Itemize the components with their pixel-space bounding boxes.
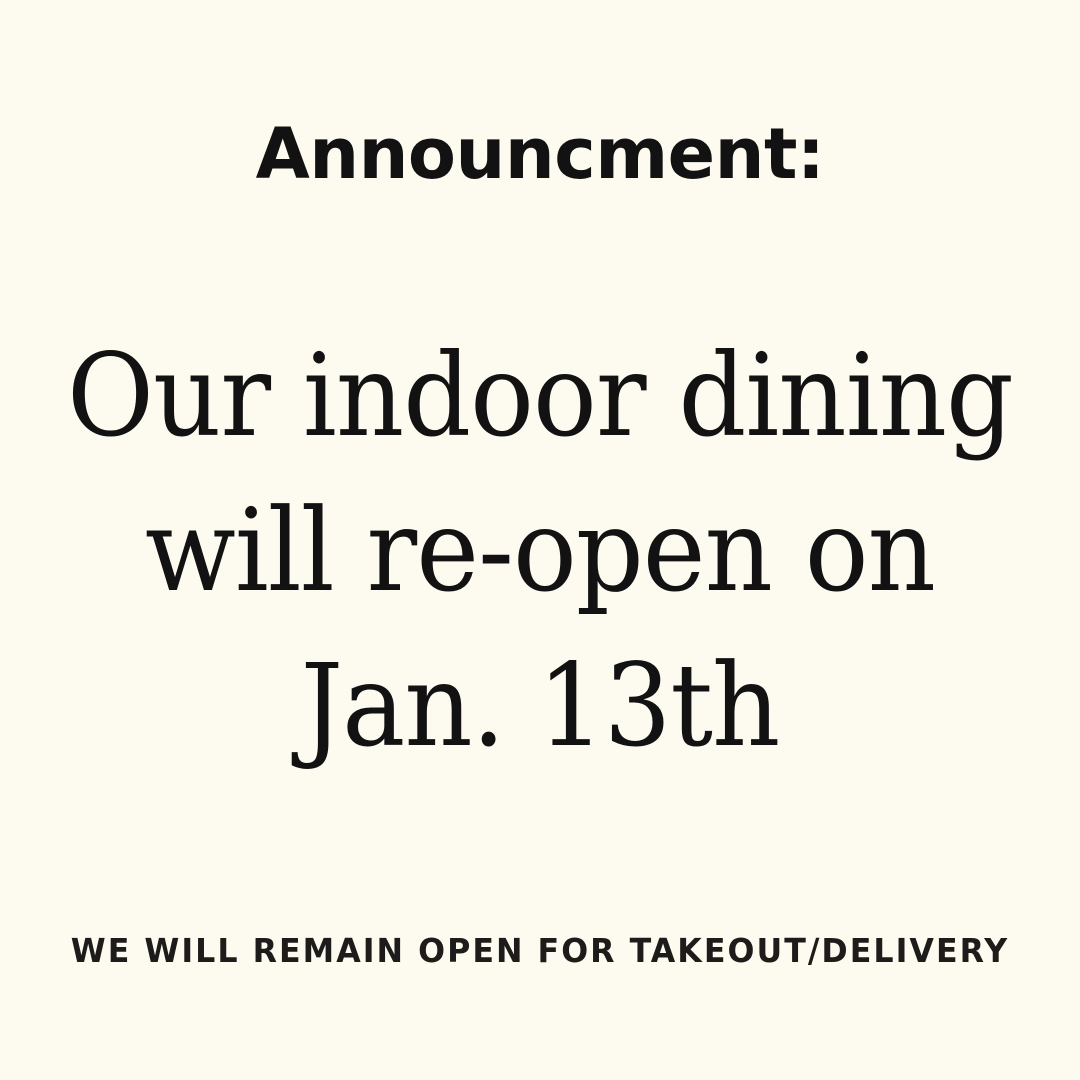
announcement-poster: Announcment: Our indoor dining will re-o… — [0, 0, 1080, 1080]
message-line-1: Our indoor dining — [38, 318, 1042, 473]
page-title: Announcment: — [0, 112, 1080, 196]
announcement-message: Our indoor dining will re-open on Jan. 1… — [0, 318, 1080, 783]
message-line-2: will re-open on — [38, 473, 1042, 628]
message-line-3-reopen-date: Jan. 13th — [38, 628, 1042, 783]
takeout-delivery-caption: WE WILL REMAIN OPEN FOR TAKEOUT/DELIVERY — [22, 930, 1059, 972]
